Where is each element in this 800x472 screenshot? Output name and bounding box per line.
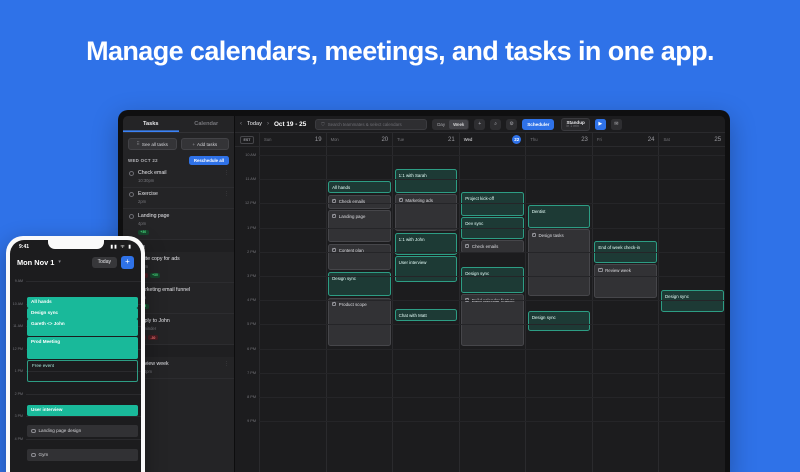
event-title: Product scope bbox=[339, 302, 367, 308]
phone-time-label: 10 AM bbox=[10, 302, 25, 306]
phone-event-block[interactable]: All hands bbox=[27, 297, 138, 308]
task-time: 10:30pm bbox=[138, 178, 220, 183]
calendar-event-block[interactable]: Design sync bbox=[528, 311, 591, 331]
event-title: 1:1 with John bbox=[399, 237, 425, 242]
phone-clock: 9:41 bbox=[19, 244, 29, 250]
phone-date-label[interactable]: Mon Nov 1 bbox=[17, 258, 54, 267]
day-column[interactable] bbox=[259, 147, 326, 472]
time-label: 11 AM bbox=[235, 177, 259, 181]
event-title: Design sync bbox=[465, 271, 489, 276]
tablet-mockup: Tasks Calendar ⠿ See all tasks + Add tas… bbox=[118, 110, 730, 472]
task-time: 2pm bbox=[138, 295, 229, 300]
phone-screen: 9:41 ▮▮ ᯤ ▮ Mon Nov 1 ▾ Today + 9 AM10 A… bbox=[10, 240, 141, 472]
day-column-header-today[interactable]: Wed 22 bbox=[459, 133, 526, 146]
search-icon[interactable]: ⌕ bbox=[490, 119, 501, 130]
check-icon[interactable]: ✓ bbox=[399, 198, 403, 202]
task-title: Check email bbox=[138, 170, 220, 177]
task-menu-icon[interactable]: ⋮ bbox=[224, 191, 229, 197]
hour-gridline bbox=[259, 421, 725, 422]
event-title: End of week check-in bbox=[598, 245, 640, 250]
standup-widget[interactable]: Standup in 1 min bbox=[561, 118, 589, 131]
hour-gridline bbox=[259, 155, 725, 156]
calendar-task-block[interactable]: ✓Product scope bbox=[328, 298, 391, 346]
calendar-task-block[interactable]: ✓Marketing ads bbox=[395, 194, 458, 231]
event-title: Dev sync bbox=[465, 221, 483, 226]
view-day-option[interactable]: Day bbox=[433, 120, 449, 129]
phone-event-title: Free event bbox=[32, 363, 54, 368]
day-name: Sat bbox=[663, 137, 669, 142]
phone-event-title: Design sync bbox=[31, 310, 58, 315]
date-range-label: Oct 19 - 25 bbox=[274, 121, 306, 128]
see-all-tasks-label: See all tasks bbox=[142, 142, 168, 147]
event-title: Design tasks bbox=[539, 233, 564, 239]
time-label: 5 PM bbox=[235, 322, 259, 326]
video-camera-icon[interactable]: ▶ bbox=[595, 119, 606, 130]
calendar-event-block[interactable]: Design sync bbox=[461, 267, 524, 293]
add-event-button[interactable]: + bbox=[474, 119, 485, 130]
day-number: 21 bbox=[448, 137, 455, 143]
calendar-day-header: EST Sun 19 Mon 20 Tue 21 Wed 22 bbox=[235, 133, 725, 147]
tablet-screen: Tasks Calendar ⠿ See all tasks + Add tas… bbox=[123, 116, 725, 472]
phone-time-label: 12 PM bbox=[10, 347, 25, 351]
view-toggle[interactable]: Day Week bbox=[432, 119, 469, 130]
day-column-header[interactable]: Thu 23 bbox=[525, 133, 592, 146]
prev-week-button[interactable]: ‹ bbox=[240, 121, 242, 127]
day-columns[interactable]: All hands✓Check emails✓Landing page✓Cont… bbox=[259, 147, 725, 472]
phone-calendar-grid[interactable]: 9 AM10 AM11 AM12 PM1 PM2 PM3 PM4 PMAll h… bbox=[10, 271, 141, 472]
time-label: 9 PM bbox=[235, 419, 259, 423]
calendar-task-block[interactable]: ✓Review week bbox=[594, 264, 657, 298]
task-title: Review week bbox=[138, 361, 220, 368]
phone-hour-gridline bbox=[26, 439, 141, 440]
task-badge: -30 bbox=[148, 335, 158, 341]
phone-event-title: Gym bbox=[39, 452, 49, 458]
hour-gridline bbox=[259, 203, 725, 204]
chevron-down-icon[interactable]: ▾ bbox=[58, 259, 61, 265]
day-name: Mon bbox=[331, 137, 339, 142]
phone-time-label: 9 AM bbox=[10, 279, 25, 283]
check-icon[interactable]: ✓ bbox=[465, 244, 469, 248]
page-headline: Manage calendars, meetings, and tasks in… bbox=[0, 36, 800, 67]
day-number: 20 bbox=[381, 137, 388, 143]
phone-event-title: Gareth <> John bbox=[31, 321, 65, 326]
check-icon[interactable]: ✓ bbox=[332, 302, 336, 306]
event-title: Design sync bbox=[665, 294, 689, 299]
task-badge: +30 bbox=[150, 273, 161, 279]
task-time: 4pm bbox=[138, 221, 229, 226]
calendar-task-block[interactable]: ✓Check emails bbox=[328, 195, 391, 209]
task-row[interactable]: Landing page 4pm +30 bbox=[123, 209, 234, 240]
tab-tasks[interactable]: Tasks bbox=[123, 116, 179, 132]
phone-header: Mon Nov 1 ▾ Today + bbox=[10, 253, 141, 271]
task-title: Landing page bbox=[138, 213, 229, 220]
task-section-date: WED OCT 22 bbox=[128, 158, 158, 163]
day-column[interactable]: End of week check-in✓Review week bbox=[592, 147, 659, 472]
event-title: Check emails bbox=[472, 244, 498, 250]
grid-icon: ⠿ bbox=[137, 141, 140, 147]
phone-task-block[interactable]: Landing page design bbox=[27, 425, 138, 437]
calendar-event-block[interactable]: 1:1 with Sarah bbox=[395, 169, 458, 193]
phone-event-title: User interview bbox=[31, 407, 62, 412]
phone-today-button[interactable]: Today bbox=[92, 257, 117, 268]
phone-event-title: All hands bbox=[31, 299, 52, 304]
calendar-event-block[interactable]: All hands bbox=[328, 181, 391, 193]
task-row[interactable]: Check email 10:30pm ⋮ bbox=[123, 166, 234, 188]
hour-gridline bbox=[259, 373, 725, 374]
event-title: Review week bbox=[605, 268, 631, 274]
add-tasks-button[interactable]: + Add tasks bbox=[181, 138, 230, 150]
task-menu-icon[interactable]: ⋮ bbox=[224, 170, 229, 176]
event-title: Landing page bbox=[339, 214, 366, 220]
calendar-task-block[interactable]: ✓Landing page bbox=[328, 210, 391, 242]
event-title: Marketing ads bbox=[405, 198, 433, 204]
hour-gridline bbox=[259, 252, 725, 253]
phone-event-block[interactable]: Prod Meeting bbox=[27, 337, 138, 359]
day-name: Fri bbox=[597, 137, 602, 142]
phone-event-block[interactable]: Gareth <> John bbox=[27, 319, 138, 336]
time-label: 4 PM bbox=[235, 298, 259, 302]
calendar-grid[interactable]: 10 AM11 AM12 PM1 PM2 PM3 PM4 PM5 PM6 PM7… bbox=[235, 147, 725, 472]
calendar-task-block[interactable]: ✓Design tasks bbox=[528, 229, 591, 296]
hour-gridline bbox=[259, 349, 725, 350]
see-all-tasks-button[interactable]: ⠿ See all tasks bbox=[128, 138, 177, 150]
time-label: 2 PM bbox=[235, 250, 259, 254]
event-title: Chat with Matt bbox=[399, 313, 427, 318]
task-menu-icon[interactable]: ⋮ bbox=[224, 361, 229, 367]
day-name: Tue bbox=[397, 137, 404, 142]
task-checkbox[interactable] bbox=[129, 192, 134, 197]
check-icon[interactable]: ✓ bbox=[598, 268, 602, 272]
sidebar-actions: ⠿ See all tasks + Add tasks bbox=[123, 133, 234, 154]
day-number: 19 bbox=[315, 137, 322, 143]
task-title: Exercise bbox=[138, 191, 220, 198]
event-title: 1:1 with Sarah bbox=[399, 173, 427, 178]
hour-gridline bbox=[259, 276, 725, 277]
task-time: Reminder bbox=[138, 326, 229, 331]
time-label: 10 AM bbox=[235, 153, 259, 157]
task-time: 2pm bbox=[138, 199, 220, 204]
phone-event-title: Landing page design bbox=[39, 428, 82, 434]
day-column-header[interactable]: Mon 20 bbox=[326, 133, 393, 146]
phone-hour-gridline bbox=[26, 394, 141, 395]
event-title: Dentist bbox=[532, 209, 546, 214]
task-badge: +30 bbox=[138, 230, 149, 236]
day-number: 23 bbox=[581, 137, 588, 143]
phone-time-label: 3 PM bbox=[10, 414, 25, 418]
sidebar-tabs: Tasks Calendar bbox=[123, 116, 234, 133]
phone-mockup: 9:41 ▮▮ ᯤ ▮ Mon Nov 1 ▾ Today + 9 AM10 A… bbox=[6, 236, 145, 472]
calendar-toolbar: ‹ Today › Oct 19 - 25 ⛉ Search teammates… bbox=[235, 116, 725, 133]
day-column[interactable]: Project kick-offDev sync✓Check emailsDes… bbox=[459, 147, 526, 472]
phone-task-block[interactable]: Gym bbox=[27, 449, 138, 461]
day-name: Sun bbox=[264, 137, 271, 142]
day-column[interactable]: Design sync bbox=[658, 147, 725, 472]
today-button[interactable]: Today bbox=[247, 121, 262, 127]
people-icon: ⛉ bbox=[321, 122, 324, 127]
timezone-label: EST bbox=[240, 136, 254, 144]
timezone-badge: EST bbox=[235, 133, 259, 146]
search-placeholder: Search teammates & select calendars bbox=[328, 122, 402, 127]
phone-event-title: Prod Meeting bbox=[31, 339, 60, 344]
day-number: 24 bbox=[648, 137, 655, 143]
plus-icon: + bbox=[192, 142, 195, 147]
hour-gridline bbox=[259, 397, 725, 398]
time-label: 7 PM bbox=[235, 371, 259, 375]
event-title: All hands bbox=[332, 185, 350, 190]
task-section-header: WED OCT 22 Reschedule all bbox=[123, 154, 234, 166]
phone-hour-gridline bbox=[26, 416, 141, 417]
check-icon[interactable]: ✓ bbox=[532, 233, 536, 237]
checkbox-icon[interactable] bbox=[31, 453, 36, 458]
time-label: 8 PM bbox=[235, 395, 259, 399]
phone-time-label: 4 PM bbox=[10, 437, 25, 441]
search-input[interactable]: ⛉ Search teammates & select calendars bbox=[315, 119, 427, 130]
hour-gridline bbox=[259, 324, 725, 325]
gear-icon[interactable]: ⚙ bbox=[506, 119, 517, 130]
phone-event-block[interactable]: User interview bbox=[27, 405, 138, 416]
reschedule-all-button[interactable]: Reschedule all bbox=[189, 156, 229, 165]
phone-event-block[interactable]: Free event bbox=[27, 360, 138, 382]
calendar-event-block[interactable]: User interview bbox=[395, 256, 458, 282]
phone-event-block[interactable]: Design sync bbox=[27, 308, 138, 319]
checkbox-icon[interactable] bbox=[31, 429, 36, 434]
day-column[interactable]: All hands✓Check emails✓Landing page✓Cont… bbox=[326, 147, 393, 472]
day-column[interactable]: Dentist✓Design tasksDesign sync bbox=[525, 147, 592, 472]
event-title: Design sync bbox=[532, 315, 556, 320]
time-label: 6 PM bbox=[235, 347, 259, 351]
day-number: 22 bbox=[512, 135, 521, 144]
envelope-icon[interactable]: ✉ bbox=[611, 119, 622, 130]
tab-calendar[interactable]: Calendar bbox=[179, 116, 235, 132]
phone-status-indicators: ▮▮ ᯤ ▮ bbox=[110, 244, 132, 250]
day-column-header[interactable]: Fri 24 bbox=[592, 133, 659, 146]
next-week-button[interactable]: › bbox=[267, 121, 269, 127]
task-checkbox[interactable] bbox=[129, 214, 134, 219]
check-icon[interactable]: ✓ bbox=[332, 214, 336, 218]
hour-gridline bbox=[259, 228, 725, 229]
phone-add-button[interactable]: + bbox=[121, 256, 134, 269]
task-time: 1:30pm bbox=[138, 369, 220, 374]
phone-time-label: 1 PM bbox=[10, 369, 25, 373]
hour-gridline bbox=[259, 179, 725, 180]
day-column[interactable]: 1:1 with Sarah✓Marketing ads1:1 with Joh… bbox=[392, 147, 459, 472]
scheduler-button[interactable]: Scheduler bbox=[522, 119, 554, 130]
task-title: Write copy for ads bbox=[138, 256, 229, 263]
add-tasks-label: Add tasks bbox=[197, 142, 217, 147]
time-label: 3 PM bbox=[235, 274, 259, 278]
day-number: 25 bbox=[714, 137, 721, 143]
phone-time-label: 11 AM bbox=[10, 324, 25, 328]
task-title: Marketing email funnel bbox=[138, 287, 229, 294]
calendar-event-block[interactable]: Dentist bbox=[528, 205, 591, 228]
event-title: User interview bbox=[399, 260, 427, 265]
calendar-panel: ‹ Today › Oct 19 - 25 ⛉ Search teammates… bbox=[235, 116, 725, 472]
task-title: Reply to John bbox=[138, 318, 229, 325]
phone-time-label: 2 PM bbox=[10, 392, 25, 396]
calendar-task-block[interactable]: ✓Content plan bbox=[328, 244, 391, 270]
view-week-option[interactable]: Week bbox=[449, 120, 468, 129]
day-name: Thu bbox=[530, 137, 537, 142]
time-axis: 10 AM11 AM12 PM1 PM2 PM3 PM4 PM5 PM6 PM7… bbox=[235, 147, 259, 472]
day-name: Wed bbox=[464, 137, 473, 142]
day-column-header[interactable]: Sat 25 bbox=[658, 133, 725, 146]
calendar-event-block[interactable]: Chat with Matt bbox=[395, 309, 458, 321]
hour-gridline bbox=[259, 300, 725, 301]
standup-subtitle: in 1 min bbox=[566, 125, 584, 129]
task-row[interactable]: Exercise 2pm ⋮ bbox=[123, 188, 234, 210]
phone-hour-gridline bbox=[26, 281, 141, 282]
time-label: 1 PM bbox=[235, 226, 259, 230]
calendar-task-block[interactable]: ✓Build calendar feature bbox=[461, 294, 524, 346]
event-title: Project kick-off bbox=[465, 196, 494, 201]
task-time: 11am bbox=[138, 264, 229, 269]
time-label: 12 PM bbox=[235, 201, 259, 205]
day-column-header[interactable]: Sun 19 bbox=[259, 133, 326, 146]
task-checkbox[interactable] bbox=[129, 171, 134, 176]
day-column-header[interactable]: Tue 21 bbox=[392, 133, 459, 146]
phone-notch bbox=[48, 240, 104, 249]
